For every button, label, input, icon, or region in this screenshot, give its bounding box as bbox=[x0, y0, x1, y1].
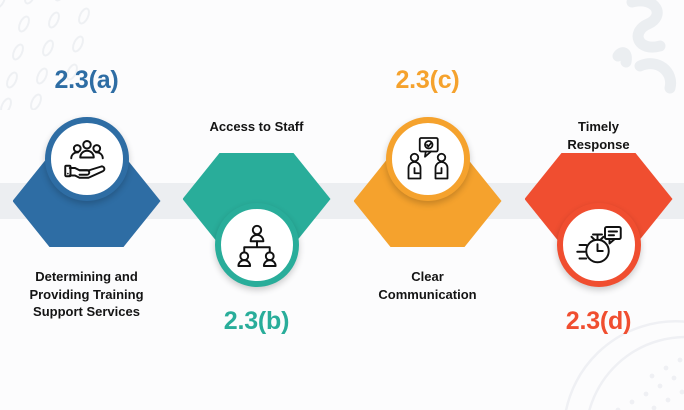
step-3-code: 2.3(c) bbox=[342, 66, 513, 96]
step-3-title-line-1: Clear bbox=[342, 268, 513, 286]
step-3-title: Clear Communication bbox=[342, 268, 513, 303]
process-step-rail: 2.3(a) Determining and Provi bbox=[0, 0, 684, 410]
step-1-icon-bubble[interactable] bbox=[45, 117, 129, 201]
two-people-chat-check-icon bbox=[404, 135, 452, 183]
step-4-title: Timely Response bbox=[513, 118, 684, 153]
step-4-icon-bubble[interactable] bbox=[557, 203, 641, 287]
process-step-2[interactable]: Access to Staff 2.3(b) bbox=[171, 0, 342, 410]
step-2-title-line-1: Access to Staff bbox=[171, 118, 342, 136]
process-step-4[interactable]: Timely Response 2.3(d) bbox=[513, 0, 684, 410]
process-step-3[interactable]: 2.3(c) Clear Communication bbox=[342, 0, 513, 410]
stopwatch-message-icon bbox=[575, 221, 623, 269]
infographic-canvas: 2.3(a) Determining and Provi bbox=[0, 0, 684, 410]
step-1-title: Determining and Providing Training Suppo… bbox=[1, 268, 172, 321]
step-3-icon-bubble[interactable] bbox=[386, 117, 470, 201]
step-1-code: 2.3(a) bbox=[1, 66, 172, 96]
people-hierarchy-icon bbox=[233, 221, 281, 269]
step-2-code: 2.3(b) bbox=[171, 307, 342, 337]
hand-holding-people-icon bbox=[63, 135, 111, 183]
step-3-title-line-2: Communication bbox=[342, 286, 513, 304]
step-4-title-line-2: Response bbox=[513, 136, 684, 154]
step-4-title-line-1: Timely bbox=[513, 118, 684, 136]
step-4-code: 2.3(d) bbox=[513, 307, 684, 337]
process-step-1[interactable]: 2.3(a) Determining and Provi bbox=[1, 0, 172, 410]
step-1-title-line-2: Providing Training bbox=[1, 286, 172, 304]
step-2-title: Access to Staff bbox=[171, 118, 342, 136]
step-1-title-line-3: Support Services bbox=[1, 303, 172, 321]
step-1-title-line-1: Determining and bbox=[1, 268, 172, 286]
step-2-icon-bubble[interactable] bbox=[215, 203, 299, 287]
